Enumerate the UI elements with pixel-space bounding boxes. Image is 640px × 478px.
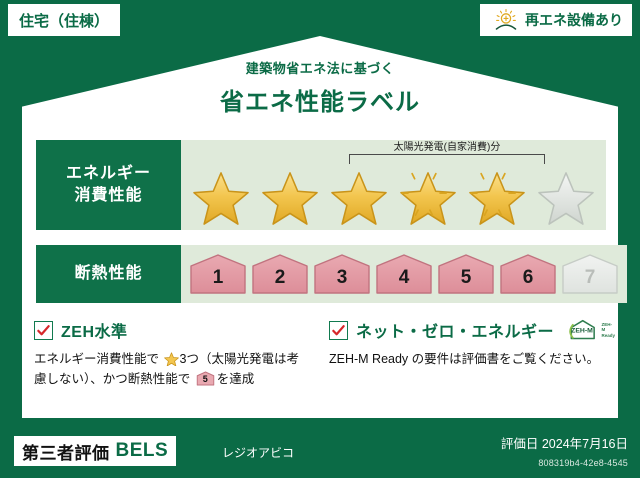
insulation-chip-label: 2 <box>275 267 286 296</box>
inline-chip-value: 5 <box>196 371 215 386</box>
inline-star-icon <box>164 352 179 367</box>
zeh-m-ready-line1: ZEH-M <box>602 322 613 332</box>
building-name: レジオアビコ <box>222 444 294 461</box>
insulation-chip-label: 4 <box>399 267 410 296</box>
nze-checkbox[interactable] <box>329 321 348 340</box>
energy-label-line1: エネルギー <box>66 163 151 185</box>
insulation-chip-3: 3 <box>311 252 373 296</box>
criteria-columns: ZEH水準 エネルギー消費性能で 3つ（太陽光発電は考慮しない）、かつ断熱性能で… <box>34 318 606 390</box>
check-icon <box>36 323 51 338</box>
building-type-badge: 住宅（住棟） <box>8 4 120 36</box>
insulation-chip-label: 6 <box>523 267 534 296</box>
net-zero-energy-block: ネット・ゼロ・エネルギー ZEH-M ZEH-M Ready <box>329 318 606 390</box>
svg-text:ZEH-M: ZEH-M <box>571 327 593 334</box>
label-footer: 第三者評価 BELS レジオアビコ 評価日 2024年7月16日 808319b… <box>0 422 640 478</box>
insulation-chip-label: 5 <box>461 267 472 296</box>
zeh-m-house-icon: ZEH-M <box>566 318 599 342</box>
net-zero-energy-header: ネット・ゼロ・エネルギー ZEH-M ZEH-M Ready <box>329 318 606 342</box>
energy-label-root: 住宅（住棟） 再エネ設備あり 建築物省エネ法に基づく 省エネ性能ラベル エネルギ… <box>0 0 640 478</box>
energy-star-5-solar <box>468 170 526 226</box>
insulation-label-text: 断熱性能 <box>74 263 142 285</box>
energy-star-4-solar <box>399 170 457 226</box>
zeh-desc-prefix: エネルギー消費性能で <box>34 352 159 366</box>
insulation-chip-label: 7 <box>585 267 596 296</box>
sun-solar-icon <box>493 8 519 32</box>
label-subtitle: 建築物省エネ法に基づく <box>0 58 640 77</box>
net-zero-energy-title: ネット・ゼロ・エネルギー <box>356 318 554 342</box>
solar-annotation-bracket <box>349 154 545 164</box>
zeh-standard-title: ZEH水準 <box>61 318 128 342</box>
energy-star-3 <box>330 170 388 226</box>
building-type-badge-label: 住宅（住棟） <box>19 10 109 31</box>
insulation-chip-2: 2 <box>249 252 311 296</box>
label-title-block: 建築物省エネ法に基づく 省エネ性能ラベル <box>0 58 640 117</box>
check-icon <box>331 323 346 338</box>
renewable-badge-label: 再エネ設備あり <box>525 10 623 30</box>
energy-star-6-empty <box>537 170 595 226</box>
zeh-standard-header: ZEH水準 <box>34 318 311 342</box>
energy-label-line2: 消費性能 <box>74 185 142 207</box>
zeh-desc-stars: 3つ（太陽光発電 <box>180 352 274 366</box>
solar-annotation-text: 太陽光発電(自家消費)分 <box>349 138 545 153</box>
insulation-chip-7-inactive: 7 <box>559 252 621 296</box>
insulation-chip-6: 6 <box>497 252 559 296</box>
renewable-equipment-badge: 再エネ設備あり <box>480 4 632 36</box>
inline-insulation-chip: 5 <box>196 371 215 386</box>
insulation-chip-label: 3 <box>337 267 348 296</box>
zeh-standard-description: エネルギー消費性能で 3つ（太陽光発電は考慮しない）、かつ断熱性能で 5 を達成 <box>34 349 311 390</box>
energy-star-track: 太陽光発電(自家消費)分 <box>181 140 606 230</box>
insulation-chip-1: 1 <box>187 252 249 296</box>
third-party-evaluation-badge: 第三者評価 BELS <box>14 436 176 466</box>
insulation-level-track: 1 2 3 4 5 6 <box>181 245 627 303</box>
zeh-m-ready-line2: Ready <box>602 333 616 338</box>
page-title: 省エネ性能ラベル <box>0 82 640 117</box>
energy-performance-row: エネルギー 消費性能 太陽光発電(自家消費)分 <box>36 140 606 230</box>
third-party-label: 第三者評価 <box>22 439 110 464</box>
solar-self-consumption-annotation: 太陽光発電(自家消費)分 <box>349 138 545 164</box>
insulation-chip-label: 1 <box>213 267 224 296</box>
zeh-m-logo: ZEH-M ZEH-M Ready <box>566 318 616 342</box>
net-zero-energy-description: ZEH-M Ready の要件は評価書をご覧ください。 <box>329 349 606 369</box>
zeh-desc-suffix: を達成 <box>217 372 255 386</box>
insulation-chip-4: 4 <box>373 252 435 296</box>
insulation-performance-row: 断熱性能 1 2 3 4 5 <box>36 245 606 303</box>
insulation-chip-5: 5 <box>435 252 497 296</box>
energy-star-2 <box>261 170 319 226</box>
certificate-id: 808319b4-42e8-4545 <box>538 458 628 468</box>
zeh-standard-block: ZEH水準 エネルギー消費性能で 3つ（太陽光発電は考慮しない）、かつ断熱性能で… <box>34 318 311 390</box>
zeh-m-ready-caption: ZEH-M Ready <box>602 322 616 338</box>
insulation-performance-label: 断熱性能 <box>36 245 181 303</box>
zeh-checkbox[interactable] <box>34 321 53 340</box>
energy-star-1 <box>192 170 250 226</box>
energy-performance-label: エネルギー 消費性能 <box>36 140 181 230</box>
evaluation-date: 評価日 2024年7月16日 <box>501 433 628 452</box>
bels-label: BELS <box>116 440 169 462</box>
